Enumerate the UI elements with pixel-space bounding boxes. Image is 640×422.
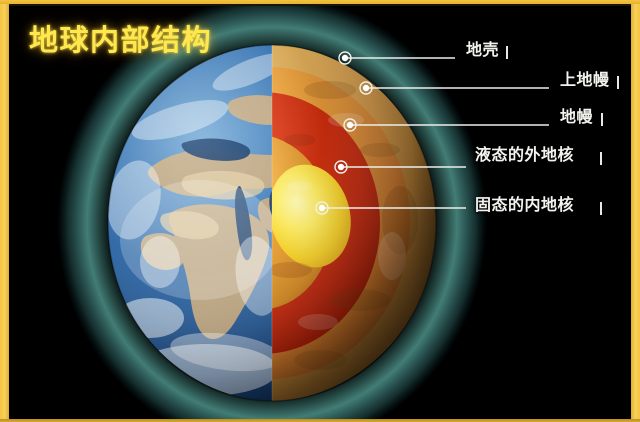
label-bracket-mantle (601, 113, 603, 126)
frame-top-border (0, 0, 640, 4)
frame-left-border (0, 0, 9, 422)
label-bracket-liquid-outer-core (600, 152, 602, 165)
label-bracket-crust (506, 46, 508, 59)
frame-inner-top (9, 4, 631, 6)
label-bracket-upper-mantle (617, 76, 619, 89)
diagram-canvas: 地球内部结构 地壳上地幔地幔液态的外地核固态的内地核 (0, 0, 640, 422)
label-mantle: 地幔 (560, 103, 593, 127)
page-title: 地球内部结构 (29, 17, 212, 59)
label-bracket-solid-inner-core (600, 202, 602, 215)
leader-dot-crust[interactable] (342, 55, 348, 61)
leader-dot-upper-mantle[interactable] (363, 85, 369, 91)
leader-dot-solid-inner-core[interactable] (319, 205, 325, 211)
label-solid-inner-core: 固态的内地核 (475, 191, 574, 215)
leader-dot-liquid-outer-core[interactable] (338, 164, 344, 170)
leader-dot-mantle[interactable] (347, 122, 353, 128)
label-crust: 地壳 (466, 36, 499, 60)
label-upper-mantle: 上地幔 (560, 66, 610, 90)
label-liquid-outer-core: 液态的外地核 (475, 141, 574, 165)
frame-right-border (631, 0, 640, 422)
